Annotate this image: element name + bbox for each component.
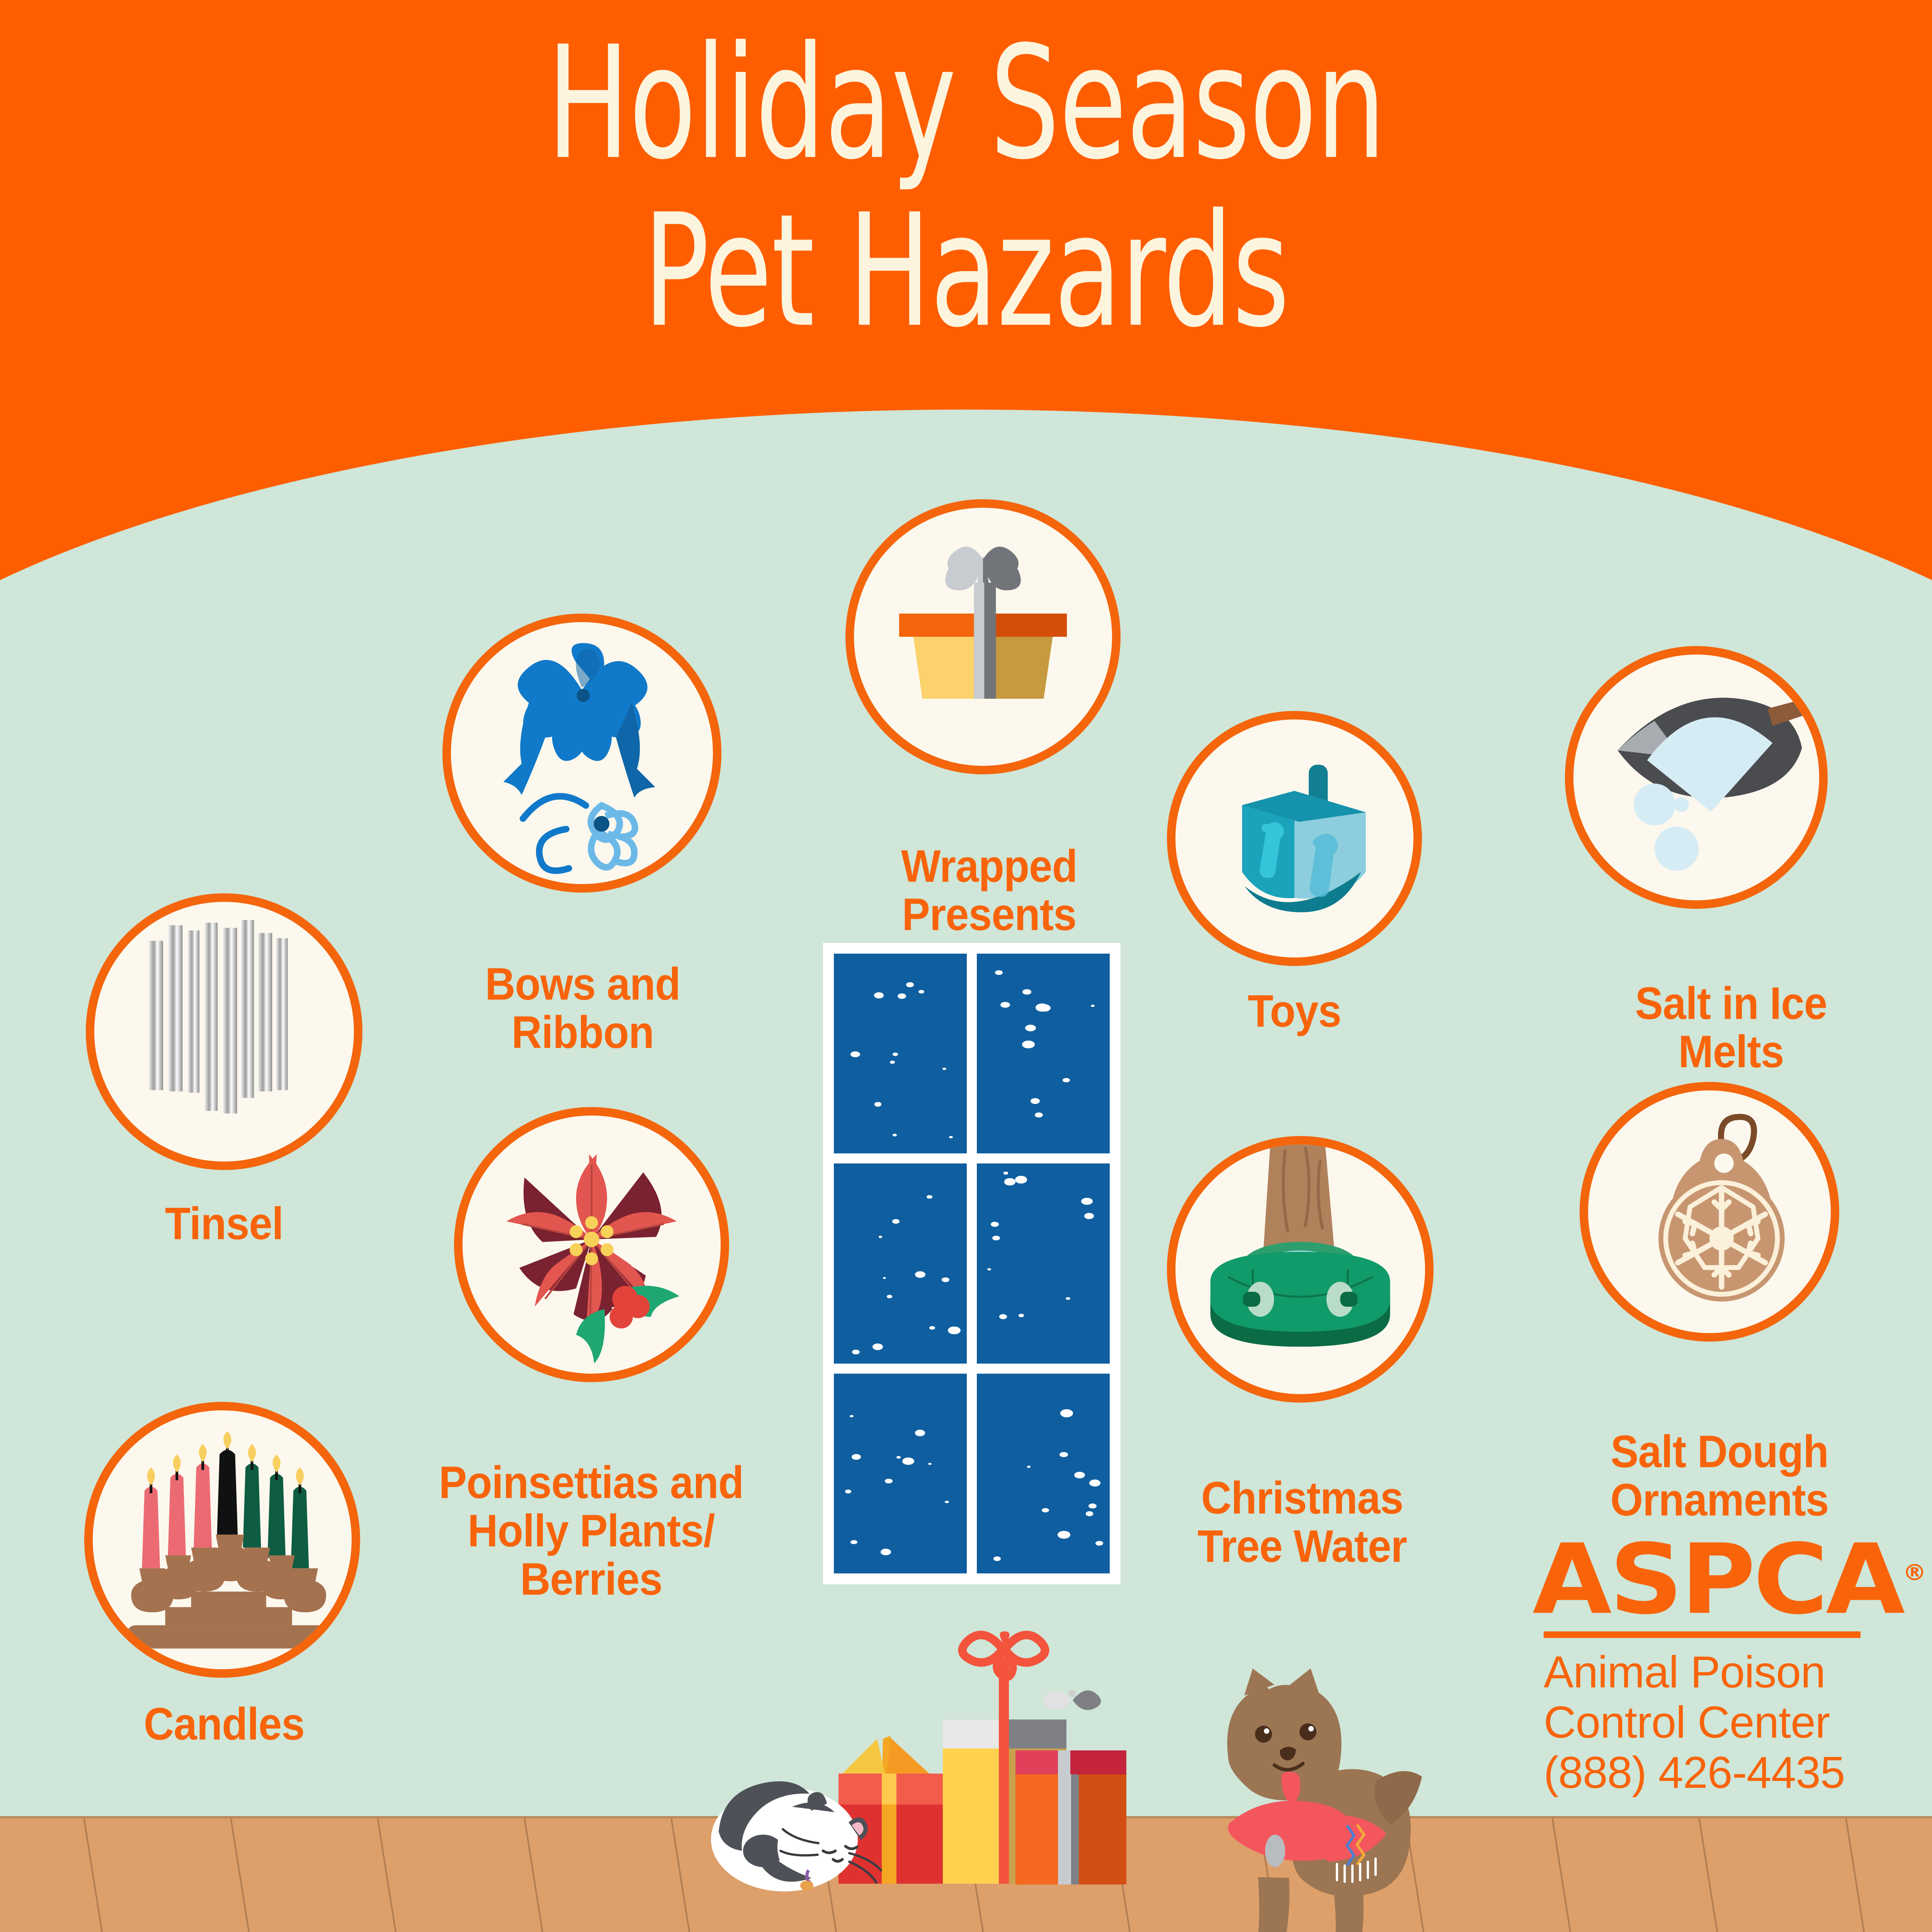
snowflake [898, 993, 906, 999]
snowflake [850, 1051, 860, 1058]
snowflake [1031, 1098, 1040, 1104]
snowflake [995, 970, 1003, 975]
label-text: Salt in Ice Melts [1635, 978, 1827, 1077]
bottom-scene [696, 1546, 1430, 1932]
hazard-icon-wrapped-presents[interactable] [845, 499, 1121, 774]
snowflake [1081, 1198, 1093, 1205]
snowflake [942, 1277, 949, 1282]
snowflake [883, 1277, 886, 1279]
snowflake [1060, 1452, 1068, 1458]
hazard-icon-salt-ice-melts[interactable] [1565, 646, 1828, 909]
snowflake [872, 1344, 883, 1350]
label-text: Wrapped Presents [901, 841, 1077, 940]
snowflake [1074, 1472, 1085, 1478]
hazard-label-candles: Candles [75, 1700, 374, 1748]
pomeranian-with-scarf [1227, 1668, 1422, 1932]
hazard-icon-christmas-tree-water[interactable] [1167, 1136, 1434, 1403]
floor-plank [376, 1816, 398, 1932]
snowflake [1025, 1025, 1036, 1031]
snowflake [945, 1501, 949, 1503]
snowflake [992, 1236, 1000, 1241]
snowflake [1095, 1541, 1103, 1546]
snowflake [929, 1326, 935, 1330]
label-text: Tinsel [165, 1198, 283, 1249]
hazard-label-wrapped-presents: Wrapped Presents [840, 794, 1139, 939]
snowflake [1060, 1409, 1073, 1417]
snowflake [942, 1068, 946, 1070]
gift-stack [838, 1631, 1126, 1884]
poinsettia-holly-icon [463, 1116, 721, 1374]
hazard-icon-poinsettias-holly[interactable] [454, 1107, 729, 1382]
hazard-icon-bows-ribbon[interactable] [442, 614, 721, 893]
kinara-candles-icon [93, 1410, 352, 1669]
snowflake [852, 1350, 859, 1354]
floor-plank [230, 1816, 251, 1932]
window-pane [977, 954, 1110, 1153]
salt-dough-ornament-icon [1588, 1090, 1831, 1333]
label-text: Candles [144, 1699, 304, 1750]
tree-stand-icon [1175, 1145, 1425, 1394]
aspca-sub-line-1: Animal Poison [1544, 1647, 1861, 1697]
snowflake [887, 1295, 892, 1298]
hazard-icon-toys[interactable] [1167, 711, 1422, 966]
snowflake [892, 1219, 900, 1224]
snowflake [915, 1271, 925, 1278]
snowflake [845, 1490, 851, 1493]
snow-shovel-icon [1573, 655, 1819, 900]
registered-trademark-icon: ® [1903, 1560, 1926, 1586]
snowflake [1035, 1112, 1043, 1117]
snowflake [1091, 1005, 1095, 1007]
snowflake [991, 1222, 999, 1227]
window-pane [834, 1163, 967, 1363]
hazard-label-salt-dough: Salt Dough Ornaments [1538, 1379, 1901, 1524]
snowflake [1063, 1078, 1070, 1083]
label-text: Bows and Ribbon [485, 959, 680, 1058]
snowflake [1042, 1508, 1049, 1513]
snowflake [885, 1479, 892, 1483]
snowflake [902, 1458, 915, 1465]
snowflake [948, 1327, 961, 1335]
snowflake [1027, 1466, 1031, 1468]
snowflake [890, 1061, 895, 1064]
label-text: Salt Dough Ornaments [1611, 1426, 1829, 1526]
snowflake [949, 1136, 952, 1138]
hazard-icon-tinsel[interactable] [86, 893, 362, 1170]
bow-ribbon-icon [451, 622, 713, 884]
infographic-canvas: Holiday Season Pet Hazards [0, 0, 1932, 1932]
tinsel-icon [94, 902, 354, 1162]
floor-plank [523, 1816, 545, 1932]
label-text: Toys [1248, 986, 1341, 1037]
title-line-1: Holiday Season [39, 19, 1893, 187]
hazard-icon-candles[interactable] [84, 1402, 360, 1678]
window-frame [823, 943, 1121, 1584]
snowflake [927, 1195, 932, 1199]
snowflake [893, 1134, 897, 1136]
window-pane [977, 1374, 1110, 1573]
snowflake [928, 1463, 931, 1465]
snowflake [1015, 1176, 1027, 1183]
snowflake [906, 982, 914, 987]
hazard-label-toys: Toys [1163, 987, 1426, 1036]
floor-plank [83, 1816, 104, 1932]
hazard-icon-salt-dough[interactable] [1580, 1082, 1839, 1342]
title-line-2: Pet Hazards [39, 187, 1893, 355]
window-pane [977, 1163, 1110, 1363]
snowflake [852, 1454, 861, 1460]
floor-plank [1551, 1816, 1573, 1932]
snowflake [1089, 1480, 1100, 1486]
snowflake [1088, 1503, 1097, 1509]
aspca-wordmark-text: ASPCA [1532, 1523, 1903, 1636]
hazard-label-tinsel: Tinsel [82, 1200, 366, 1248]
aspca-wordmark: ASPCA® [1532, 1536, 1926, 1623]
window-pane [834, 1374, 967, 1573]
hazard-label-salt-ice-melts: Salt in Ice Melts [1553, 931, 1909, 1076]
snowflake [893, 1053, 898, 1056]
aspca-subtitle: Animal Poison Control Center (888) 426-4… [1544, 1647, 1861, 1798]
floor-plank [1698, 1816, 1719, 1932]
floor-plank [1845, 1816, 1866, 1932]
hazard-label-bows-ribbon: Bows and Ribbon [434, 912, 732, 1057]
snowflake [896, 1456, 901, 1459]
snowflake [987, 1268, 991, 1270]
snowflake [1022, 1041, 1035, 1048]
aspca-phone[interactable]: (888) 426-4435 [1544, 1748, 1861, 1798]
aspca-sub-line-2: Control Center [1544, 1697, 1861, 1748]
snowflake [1004, 1178, 1016, 1185]
snowflake [1000, 1002, 1010, 1008]
snowflake [874, 992, 884, 998]
window-pane [834, 954, 967, 1153]
snowflake [1086, 1511, 1094, 1516]
snowflake [1039, 1004, 1051, 1012]
snowflake [1058, 1531, 1071, 1539]
aspca-logo[interactable]: ASPCA® Animal Poison Control Center (888… [1544, 1536, 1861, 1798]
page-title: Holiday Season Pet Hazards [39, 19, 1893, 355]
snowflake [999, 1314, 1007, 1319]
snowflake [1003, 1172, 1008, 1174]
snowflake [850, 1415, 854, 1417]
gift-box-icon [854, 508, 1112, 766]
snowflake [918, 990, 924, 993]
dreidel-icon [1175, 719, 1413, 957]
floor-plank [670, 1816, 692, 1932]
snowflake [850, 1540, 857, 1544]
snowflake [1066, 1297, 1070, 1300]
snowflake [879, 1236, 882, 1238]
snowflake [874, 1102, 882, 1107]
snowflake [915, 1430, 925, 1436]
snowflake [1022, 989, 1031, 995]
snowflake [1019, 1314, 1024, 1317]
snowflake [1084, 1213, 1094, 1219]
